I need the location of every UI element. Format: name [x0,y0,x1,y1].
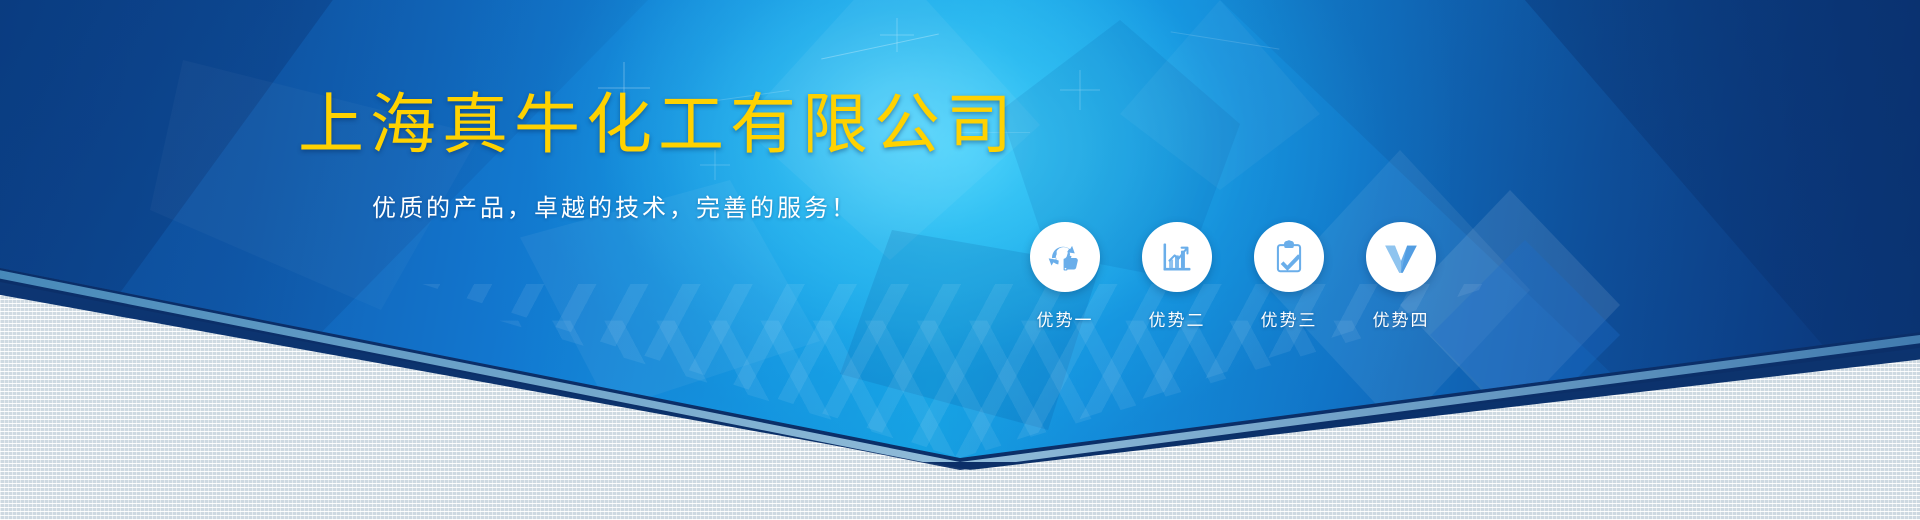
advantage-icon-circle-4 [1366,222,1436,292]
bar-chart-growth-icon [1158,238,1196,276]
advantage-item-4[interactable]: 优势四 [1366,222,1436,331]
advantage-icon-circle-2 [1142,222,1212,292]
advantage-item-3[interactable]: 优势三 [1254,222,1324,331]
company-name-title: 上海真牛化工有限公司 [298,91,1018,157]
advantage-icon-circle-3 [1254,222,1324,292]
v-check-icon [1380,236,1422,278]
clipboard-check-icon [1270,238,1308,276]
advantage-item-1[interactable]: 优势一 [1030,222,1100,331]
advantages-list: 优势一 [1030,222,1436,331]
company-slogan: 优质的产品，卓越的技术，完善的服务！ [372,197,858,221]
refresh-thumbsup-icon [1045,237,1085,277]
advantage-icon-circle-1 [1030,222,1100,292]
advantage-label-3: 优势三 [1261,306,1318,331]
company-hero-banner: 上海真牛化工有限公司 优质的产品，卓越的技术，完善的服务！ [0,0,1920,520]
advantage-label-1: 优势一 [1037,306,1094,331]
advantage-item-2[interactable]: 优势二 [1142,222,1212,331]
banner-content: 上海真牛化工有限公司 优质的产品，卓越的技术，完善的服务！ [0,0,1920,520]
advantage-label-2: 优势二 [1149,306,1206,331]
advantage-label-4: 优势四 [1373,306,1430,331]
